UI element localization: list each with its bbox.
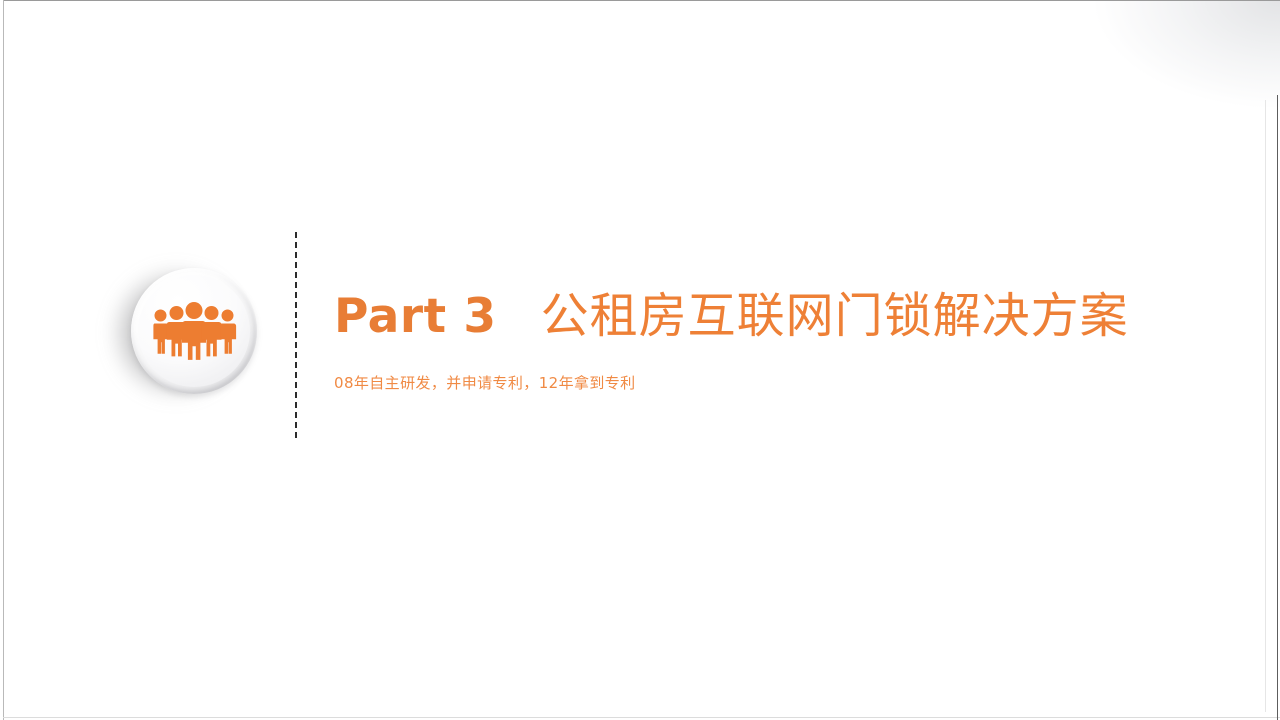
section-emblem bbox=[131, 268, 257, 394]
section-text-block: Part 3 公租房互联网门锁解决方案 08年自主研发，并申请专利，12年拿到专… bbox=[334, 290, 1234, 393]
section-subtitle: 08年自主研发，并申请专利，12年拿到专利 bbox=[334, 372, 1234, 393]
slide-border-right-faint bbox=[1265, 100, 1266, 712]
slide-border-right bbox=[1277, 95, 1278, 720]
section-part-label: Part 3 bbox=[334, 291, 497, 343]
slide-border-bottom bbox=[3, 717, 1280, 718]
slide-border-top bbox=[3, 0, 1280, 1]
corner-gradient-decoration bbox=[1020, 0, 1280, 150]
people-group-icon bbox=[131, 268, 257, 394]
section-title: Part 3 公租房互联网门锁解决方案 bbox=[334, 290, 1234, 343]
slide-border-left bbox=[3, 0, 4, 720]
dashed-divider bbox=[295, 232, 297, 438]
section-title-text: 公租房互联网门锁解决方案 bbox=[541, 290, 1129, 343]
slide-canvas: Part 3 公租房互联网门锁解决方案 08年自主研发，并申请专利，12年拿到专… bbox=[0, 0, 1280, 720]
